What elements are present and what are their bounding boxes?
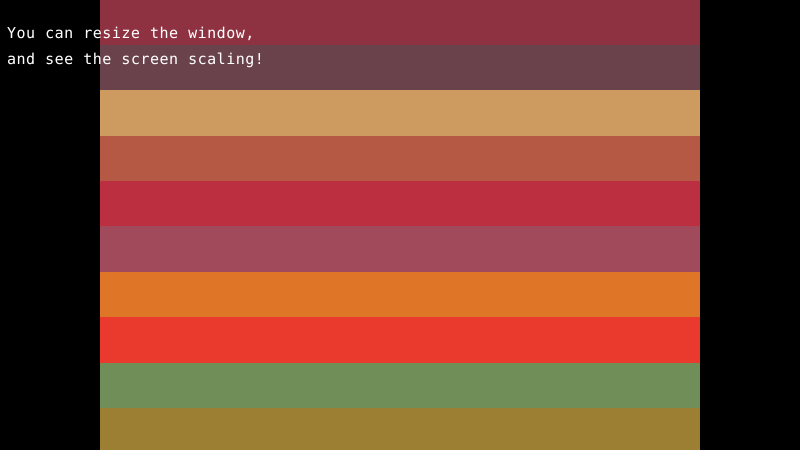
band-5 xyxy=(100,181,700,226)
band-1 xyxy=(100,0,700,45)
band-3 xyxy=(100,90,700,136)
band-6 xyxy=(100,226,700,272)
band-8 xyxy=(100,317,700,363)
band-7 xyxy=(100,272,700,317)
band-2 xyxy=(100,45,700,90)
game-screen: You can resize the window, and see the s… xyxy=(0,0,800,450)
band-4 xyxy=(100,136,700,181)
letterbox-bar-left xyxy=(0,0,100,450)
band-9 xyxy=(100,363,700,408)
letterbox-bar-right xyxy=(700,0,800,450)
band-10 xyxy=(100,408,700,450)
scaled-viewport xyxy=(100,0,700,450)
